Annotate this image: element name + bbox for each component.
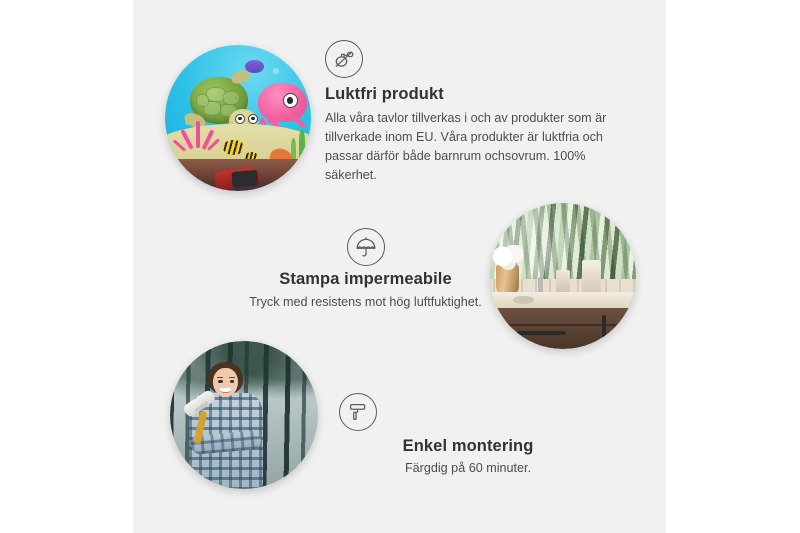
umbrella-icon bbox=[347, 228, 385, 266]
yellow-striped-fish-icon bbox=[223, 140, 243, 155]
wooden-vanity-cabinet bbox=[490, 308, 636, 349]
candle-holder bbox=[582, 260, 601, 297]
feature-easy: Enkel montering Färgdig på 60 minuter. bbox=[323, 393, 613, 478]
paint-roller-icon bbox=[339, 393, 377, 431]
promo-panel-page: Luktfri produkt Alla våra tavlor tillver… bbox=[0, 0, 800, 533]
feature-waterproof: Stampa impermeabile Tryck med resistens … bbox=[193, 228, 538, 312]
pink-coral bbox=[177, 121, 221, 159]
underwater-cartoon-mural-photo bbox=[165, 45, 311, 191]
no-odor-spray-icon bbox=[325, 40, 363, 78]
feature-title: Enkel montering bbox=[323, 437, 613, 456]
drawer-handle bbox=[517, 331, 566, 335]
person-smile bbox=[220, 388, 230, 393]
feature-description: Färgdig på 60 minuter. bbox=[323, 459, 613, 478]
painter-forest-wallpaper-photo bbox=[170, 341, 318, 489]
cabinet-door-handle bbox=[602, 315, 606, 338]
feature-description: Tryck med resistens mot hög luftfuktighe… bbox=[193, 293, 538, 312]
feature-title: Luktfri produkt bbox=[325, 85, 625, 104]
feature-odorless: Luktfri produkt Alla våra tavlor tillver… bbox=[325, 40, 625, 186]
feature-title: Stampa impermeabile bbox=[193, 270, 538, 289]
content-panel: Luktfri produkt Alla våra tavlor tillver… bbox=[133, 0, 666, 533]
feature-description: Alla våra tavlor tillverkas i och av pro… bbox=[325, 109, 625, 186]
shipwreck-opening bbox=[232, 169, 260, 187]
seaweed-plant bbox=[299, 130, 305, 162]
